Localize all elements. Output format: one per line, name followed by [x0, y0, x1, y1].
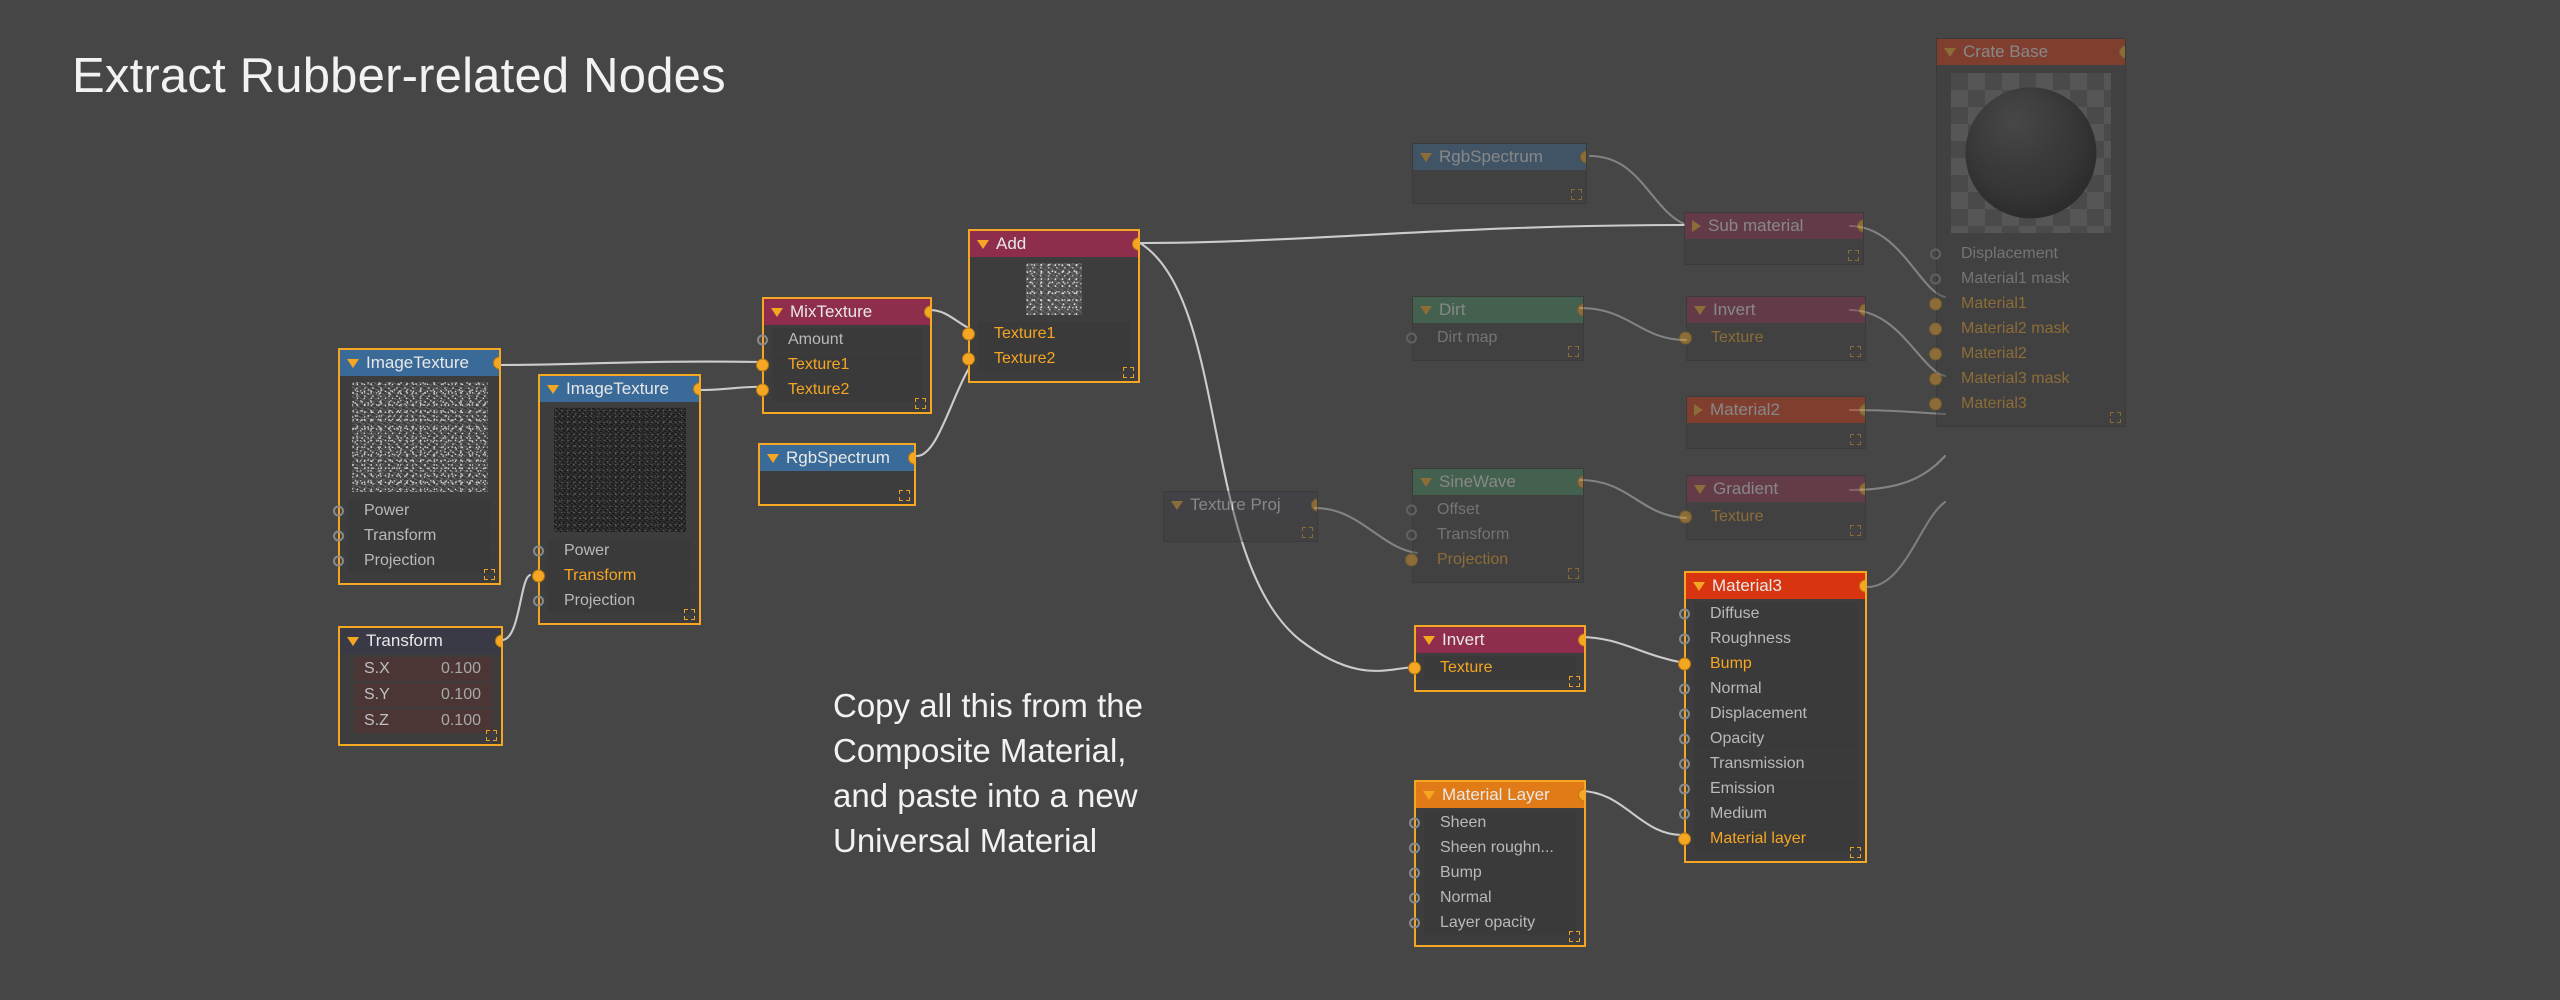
- port-list: Amount Texture1 Texture2: [764, 325, 930, 402]
- port-material2-mask[interactable]: Material2 mask: [1945, 317, 2117, 341]
- port-socket-icon[interactable]: [1930, 274, 1941, 285]
- chevron-down-icon[interactable]: [1423, 791, 1435, 800]
- port-amount[interactable]: Amount: [772, 328, 922, 352]
- port-list: Texture1 Texture2: [970, 319, 1138, 371]
- node-mix-texture[interactable]: MixTexture Amount Texture1 Texture2: [762, 297, 932, 414]
- port-label: Projection: [1437, 551, 1508, 569]
- port-socket-icon[interactable]: [1929, 373, 1942, 386]
- port-label: Emission: [1710, 780, 1775, 798]
- node-title: Dirt: [1439, 300, 1465, 320]
- port-layer-opacity[interactable]: Layer opacity: [1424, 911, 1576, 935]
- port-material2[interactable]: Material2: [1945, 342, 2117, 366]
- port-projection[interactable]: Projection: [548, 589, 691, 613]
- port-texture2[interactable]: Texture2: [772, 378, 922, 402]
- port-label: Texture1: [788, 356, 849, 374]
- port-label: Texture1: [994, 325, 1055, 343]
- resize-grip-icon[interactable]: [1568, 346, 1579, 357]
- node-title: Texture Proj: [1190, 495, 1281, 515]
- node-header[interactable]: Invert: [1416, 627, 1584, 653]
- node-header[interactable]: Crate Base: [1937, 39, 2125, 65]
- node-body-empty: [1413, 170, 1586, 194]
- node-header[interactable]: SineWave: [1413, 469, 1583, 495]
- port-socket-icon[interactable]: [1679, 684, 1690, 695]
- output-socket[interactable]: [1859, 483, 1865, 496]
- chevron-down-icon[interactable]: [1171, 501, 1183, 510]
- node-body-empty: [1687, 423, 1865, 439]
- port-list: Texture: [1687, 323, 1865, 350]
- node-material3[interactable]: Material3 Diffuse Roughness Bump Normal: [1684, 571, 1867, 863]
- chevron-down-icon[interactable]: [771, 308, 783, 317]
- port-socket-icon[interactable]: [1679, 511, 1692, 524]
- output-socket[interactable]: [1857, 220, 1863, 233]
- resize-grip-icon[interactable]: [1569, 931, 1580, 942]
- node-title: Invert: [1442, 630, 1485, 650]
- node-body-empty: [1164, 518, 1317, 532]
- port-label: Diffuse: [1710, 605, 1760, 623]
- port-label: Sheen roughn...: [1440, 839, 1554, 857]
- value-row-sz[interactable]: S.Z 0.100: [354, 709, 493, 733]
- node-title: Invert: [1713, 300, 1756, 320]
- chevron-down-icon[interactable]: [977, 240, 989, 249]
- port-label: Offset: [1437, 501, 1479, 519]
- resize-grip-icon[interactable]: [484, 569, 495, 580]
- output-socket[interactable]: [2119, 46, 2125, 59]
- node-material2[interactable]: Material2: [1686, 396, 1866, 449]
- port-label: Roughness: [1710, 630, 1791, 648]
- port-socket-icon[interactable]: [1409, 843, 1420, 854]
- port-sheen-roughness[interactable]: Sheen roughn...: [1424, 836, 1576, 860]
- output-socket[interactable]: [1859, 304, 1865, 317]
- resize-grip-icon[interactable]: [1850, 525, 1861, 536]
- port-list: Offset Transform Projection: [1413, 495, 1583, 572]
- port-socket-icon[interactable]: [532, 570, 545, 583]
- node-title: Crate Base: [1963, 42, 2048, 62]
- port-socket-icon[interactable]: [333, 556, 344, 567]
- port-socket-icon[interactable]: [533, 596, 544, 607]
- port-power[interactable]: Power: [348, 499, 491, 523]
- page-title: Extract Rubber-related Nodes: [72, 48, 726, 104]
- port-label: Material1: [1961, 295, 2027, 313]
- port-socket-icon[interactable]: [1679, 634, 1690, 645]
- node-title: Material2: [1710, 400, 1780, 420]
- port-label: Bump: [1710, 655, 1752, 673]
- chevron-down-icon[interactable]: [347, 637, 359, 646]
- port-list: Power Transform Projection: [340, 496, 499, 573]
- output-socket[interactable]: [495, 635, 501, 648]
- port-label: Amount: [788, 331, 843, 349]
- port-material1-mask[interactable]: Material1 mask: [1945, 267, 2117, 291]
- output-socket[interactable]: [1578, 789, 1584, 802]
- node-body-empty: [760, 471, 914, 495]
- port-dirt-map[interactable]: Dirt map: [1421, 326, 1575, 350]
- port-socket-icon[interactable]: [1679, 734, 1690, 745]
- resize-grip-icon[interactable]: [1568, 568, 1579, 579]
- chevron-down-icon[interactable]: [1420, 478, 1432, 487]
- port-label: Displacement: [1710, 705, 1807, 723]
- port-socket-icon[interactable]: [1406, 530, 1417, 541]
- node-image-texture-2[interactable]: ImageTexture Power Transform Projection: [538, 374, 701, 625]
- value-number[interactable]: 0.100: [441, 660, 481, 678]
- node-transform[interactable]: Transform S.X 0.100 S.Y 0.100 S.Z 0.100: [338, 626, 503, 746]
- port-socket-icon[interactable]: [1408, 662, 1421, 675]
- preview-sphere: [1965, 87, 2096, 218]
- node-title: Material Layer: [1442, 785, 1550, 805]
- port-medium[interactable]: Medium: [1694, 802, 1857, 826]
- port-texture2[interactable]: Texture2: [978, 347, 1130, 371]
- texture-thumbnail: [1026, 263, 1082, 315]
- output-socket[interactable]: [693, 383, 699, 396]
- chevron-down-icon[interactable]: [1694, 306, 1706, 315]
- node-rgb-spectrum-2[interactable]: RgbSpectrum: [1412, 143, 1587, 204]
- output-socket[interactable]: [1580, 151, 1586, 164]
- port-label: Texture: [1711, 508, 1763, 526]
- port-projection[interactable]: Projection: [348, 549, 491, 573]
- node-title: Gradient: [1713, 479, 1778, 499]
- port-socket-icon[interactable]: [962, 328, 975, 341]
- resize-grip-icon[interactable]: [1123, 367, 1134, 378]
- port-socket-icon[interactable]: [1930, 249, 1941, 260]
- port-label: Dirt map: [1437, 329, 1497, 347]
- port-label: Texture: [1711, 329, 1763, 347]
- resize-grip-icon[interactable]: [684, 609, 695, 620]
- node-image-texture-1[interactable]: ImageTexture Power Transform Projection: [338, 348, 501, 585]
- port-socket-icon[interactable]: [1929, 298, 1942, 311]
- node-title: Sub material: [1708, 216, 1803, 236]
- port-label: Normal: [1710, 680, 1762, 698]
- resize-grip-icon[interactable]: [486, 730, 497, 741]
- node-header[interactable]: RgbSpectrum: [760, 445, 914, 471]
- output-socket[interactable]: [908, 452, 914, 465]
- port-label: Normal: [1440, 889, 1492, 907]
- port-label: Opacity: [1710, 730, 1764, 748]
- node-title: Material3: [1712, 576, 1782, 596]
- port-label: Medium: [1710, 805, 1767, 823]
- port-label: Power: [564, 542, 609, 560]
- port-list: Diffuse Roughness Bump Normal Displaceme…: [1686, 599, 1865, 851]
- node-header[interactable]: Material3: [1686, 573, 1865, 599]
- output-socket[interactable]: [1311, 499, 1317, 512]
- port-label: Displacement: [1961, 245, 2058, 263]
- texture-thumbnail: [554, 408, 686, 532]
- port-label: Sheen: [1440, 814, 1486, 832]
- port-socket-icon[interactable]: [1679, 784, 1690, 795]
- node-header[interactable]: Dirt: [1413, 297, 1583, 323]
- port-list: Power Transform Projection: [540, 536, 699, 613]
- port-transform[interactable]: Transform: [548, 564, 691, 588]
- port-socket-icon[interactable]: [1679, 332, 1692, 345]
- port-texture[interactable]: Texture: [1695, 326, 1857, 350]
- port-label: Material1 mask: [1961, 270, 2069, 288]
- port-material1[interactable]: Material1: [1945, 292, 2117, 316]
- port-label: Material2: [1961, 345, 2027, 363]
- output-socket[interactable]: [1577, 304, 1583, 317]
- node-header[interactable]: Material2: [1687, 397, 1865, 423]
- chevron-down-icon[interactable]: [347, 359, 359, 368]
- resize-grip-icon[interactable]: [899, 490, 910, 501]
- port-projection[interactable]: Projection: [1421, 548, 1575, 572]
- port-displacement[interactable]: Displacement: [1694, 702, 1857, 726]
- node-body-empty: [1685, 239, 1863, 255]
- resize-grip-icon[interactable]: [1848, 250, 1859, 261]
- node-invert-dim[interactable]: Invert Texture: [1686, 296, 1866, 361]
- node-rgb-spectrum-1[interactable]: RgbSpectrum: [758, 443, 916, 506]
- chevron-down-icon[interactable]: [1944, 48, 1956, 57]
- chevron-down-icon[interactable]: [1694, 485, 1706, 494]
- port-label: Projection: [564, 592, 635, 610]
- port-diffuse[interactable]: Diffuse: [1694, 602, 1857, 626]
- port-label: Transform: [1437, 526, 1509, 544]
- node-header[interactable]: Sub material: [1685, 213, 1863, 239]
- chevron-down-icon[interactable]: [1423, 636, 1435, 645]
- output-socket[interactable]: [1577, 476, 1583, 489]
- value-label: S.Y: [364, 686, 390, 704]
- output-socket[interactable]: [1859, 404, 1865, 417]
- port-socket-icon[interactable]: [1409, 818, 1420, 829]
- node-header[interactable]: Add: [970, 231, 1138, 257]
- node-graph-canvas[interactable]: Extract Rubber-related Nodes: [0, 0, 2560, 1000]
- value-row-sy[interactable]: S.Y 0.100: [354, 683, 493, 707]
- port-socket-icon[interactable]: [533, 546, 544, 557]
- port-transform[interactable]: Transform: [1421, 523, 1575, 547]
- port-power[interactable]: Power: [548, 539, 691, 563]
- port-socket-icon[interactable]: [1929, 323, 1942, 336]
- port-socket-icon[interactable]: [1679, 759, 1690, 770]
- port-normal[interactable]: Normal: [1424, 886, 1576, 910]
- port-label: Power: [364, 502, 409, 520]
- value-number[interactable]: 0.100: [441, 686, 481, 704]
- port-list: Texture: [1687, 502, 1865, 529]
- value-label: S.Z: [364, 712, 389, 730]
- port-socket-icon[interactable]: [1409, 893, 1420, 904]
- port-displacement[interactable]: Displacement: [1945, 242, 2117, 266]
- output-socket[interactable]: [493, 357, 499, 370]
- output-socket[interactable]: [1859, 580, 1865, 593]
- node-header[interactable]: Texture Proj: [1164, 492, 1317, 518]
- port-texture[interactable]: Texture: [1424, 656, 1576, 680]
- port-socket-icon[interactable]: [1679, 609, 1690, 620]
- node-header[interactable]: RgbSpectrum: [1413, 144, 1586, 170]
- port-socket-icon[interactable]: [1406, 505, 1417, 516]
- port-list: Dirt map: [1413, 323, 1583, 350]
- resize-grip-icon[interactable]: [915, 398, 926, 409]
- port-list: Displacement Material1 mask Material1 Ma…: [1937, 239, 2125, 416]
- port-list: Sheen Sheen roughn... Bump Normal Layer …: [1416, 808, 1584, 935]
- node-title: SineWave: [1439, 472, 1516, 492]
- value-label: S.X: [364, 660, 390, 678]
- node-invert[interactable]: Invert Texture: [1414, 625, 1586, 692]
- port-socket-icon[interactable]: [962, 353, 975, 366]
- port-transform[interactable]: Transform: [348, 524, 491, 548]
- value-number[interactable]: 0.100: [441, 712, 481, 730]
- value-list: S.X 0.100 S.Y 0.100 S.Z 0.100: [340, 654, 501, 733]
- port-material3[interactable]: Material3: [1945, 392, 2117, 416]
- resize-grip-icon[interactable]: [1302, 527, 1313, 538]
- port-socket-icon[interactable]: [1406, 333, 1417, 344]
- resize-grip-icon[interactable]: [1850, 847, 1861, 858]
- chevron-down-icon[interactable]: [767, 454, 779, 463]
- port-label: Material2 mask: [1961, 320, 2069, 338]
- port-normal[interactable]: Normal: [1694, 677, 1857, 701]
- output-socket[interactable]: [1578, 634, 1584, 647]
- node-title: ImageTexture: [566, 379, 669, 399]
- resize-grip-icon[interactable]: [1571, 189, 1582, 200]
- port-texture1[interactable]: Texture1: [772, 353, 922, 377]
- node-header[interactable]: ImageTexture: [540, 376, 699, 402]
- chevron-right-icon[interactable]: [1694, 404, 1703, 416]
- resize-grip-icon[interactable]: [1850, 434, 1861, 445]
- port-list: Texture: [1416, 653, 1584, 680]
- node-header[interactable]: ImageTexture: [340, 350, 499, 376]
- port-label: Bump: [1440, 864, 1482, 882]
- node-add[interactable]: Add Texture1 Texture2: [968, 229, 1140, 383]
- port-socket-icon[interactable]: [1929, 398, 1942, 411]
- port-label: Material layer: [1710, 830, 1806, 848]
- port-socket-icon[interactable]: [1679, 709, 1690, 720]
- resize-grip-icon[interactable]: [1569, 676, 1580, 687]
- node-header[interactable]: Transform: [340, 628, 501, 654]
- port-socket-icon[interactable]: [756, 384, 769, 397]
- port-socket-icon[interactable]: [1679, 809, 1690, 820]
- node-title: ImageTexture: [366, 353, 469, 373]
- node-header[interactable]: Gradient: [1687, 476, 1865, 502]
- port-emission[interactable]: Emission: [1694, 777, 1857, 801]
- port-socket-icon[interactable]: [1678, 658, 1691, 671]
- port-socket-icon[interactable]: [1405, 554, 1418, 567]
- node-texture-proj[interactable]: Texture Proj: [1163, 491, 1318, 542]
- node-crate-base[interactable]: Crate Base Displacement Material1 mask M…: [1936, 38, 2126, 427]
- node-header[interactable]: MixTexture: [764, 299, 930, 325]
- material-preview-thumbnail: [1951, 73, 2111, 233]
- port-socket-icon[interactable]: [333, 531, 344, 542]
- output-socket[interactable]: [1132, 238, 1138, 251]
- node-title: RgbSpectrum: [786, 448, 890, 468]
- chevron-down-icon[interactable]: [1420, 306, 1432, 315]
- port-label: Transform: [364, 527, 436, 545]
- port-opacity[interactable]: Opacity: [1694, 727, 1857, 751]
- port-label: Texture2: [994, 350, 1055, 368]
- chevron-down-icon[interactable]: [1420, 153, 1432, 162]
- port-transmission[interactable]: Transmission: [1694, 752, 1857, 776]
- port-label: Material3: [1961, 395, 2027, 413]
- port-offset[interactable]: Offset: [1421, 498, 1575, 522]
- port-bump[interactable]: Bump: [1694, 652, 1857, 676]
- port-label: Texture: [1440, 659, 1492, 677]
- port-socket-icon[interactable]: [1678, 833, 1691, 846]
- port-label: Layer opacity: [1440, 914, 1535, 932]
- chevron-right-icon[interactable]: [1692, 220, 1701, 232]
- node-sine-wave[interactable]: SineWave Offset Transform Projection: [1412, 468, 1584, 583]
- annotation-text: Copy all this from the Composite Materia…: [833, 684, 1143, 864]
- port-label: Transform: [564, 567, 636, 585]
- node-title: MixTexture: [790, 302, 872, 322]
- node-title: Transform: [366, 631, 443, 651]
- node-header[interactable]: Material Layer: [1416, 782, 1584, 808]
- resize-grip-icon[interactable]: [2110, 412, 2121, 423]
- node-gradient[interactable]: Gradient Texture: [1686, 475, 1866, 540]
- resize-grip-icon[interactable]: [1850, 346, 1861, 357]
- node-title: Add: [996, 234, 1026, 254]
- chevron-down-icon[interactable]: [547, 385, 559, 394]
- node-dirt[interactable]: Dirt Dirt map: [1412, 296, 1584, 361]
- port-socket-icon[interactable]: [1409, 868, 1420, 879]
- node-title: RgbSpectrum: [1439, 147, 1543, 167]
- port-texture1[interactable]: Texture1: [978, 322, 1130, 346]
- port-sheen[interactable]: Sheen: [1424, 811, 1576, 835]
- port-label: Texture2: [788, 381, 849, 399]
- port-roughness[interactable]: Roughness: [1694, 627, 1857, 651]
- port-texture[interactable]: Texture: [1695, 505, 1857, 529]
- node-sub-material[interactable]: Sub material: [1684, 212, 1864, 265]
- port-socket-icon[interactable]: [1929, 348, 1942, 361]
- port-material3-mask[interactable]: Material3 mask: [1945, 367, 2117, 391]
- port-material-layer[interactable]: Material layer: [1694, 827, 1857, 851]
- port-label: Projection: [364, 552, 435, 570]
- node-material-layer[interactable]: Material Layer Sheen Sheen roughn... Bum…: [1414, 780, 1586, 947]
- output-socket[interactable]: [924, 306, 930, 319]
- port-socket-icon[interactable]: [1409, 918, 1420, 929]
- texture-thumbnail: [352, 382, 488, 492]
- port-label: Material3 mask: [1961, 370, 2069, 388]
- port-bump[interactable]: Bump: [1424, 861, 1576, 885]
- port-socket-icon[interactable]: [333, 506, 344, 517]
- node-header[interactable]: Invert: [1687, 297, 1865, 323]
- port-socket-icon[interactable]: [757, 335, 768, 346]
- port-label: Transmission: [1710, 755, 1805, 773]
- chevron-down-icon[interactable]: [1693, 582, 1705, 591]
- value-row-sx[interactable]: S.X 0.100: [354, 657, 493, 681]
- port-socket-icon[interactable]: [756, 359, 769, 372]
